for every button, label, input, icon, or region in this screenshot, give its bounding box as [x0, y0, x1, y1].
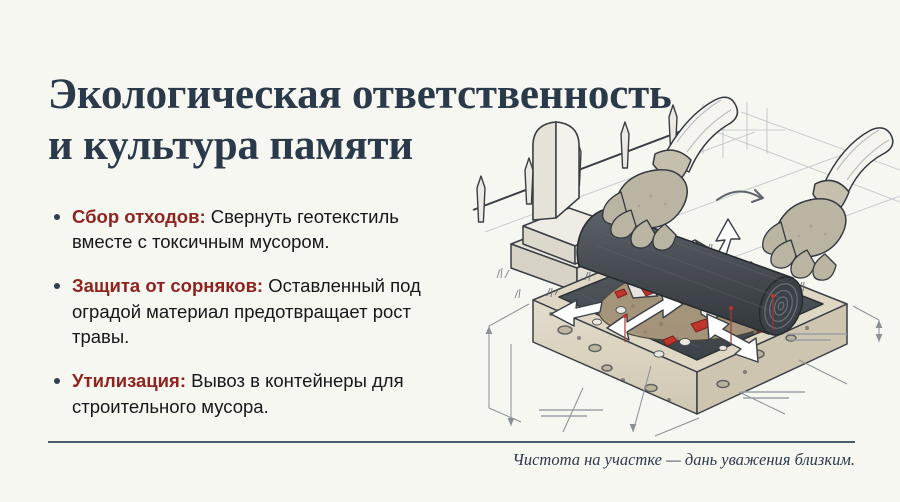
- bullet-list: Сбор отходов: Свернуть геотекстиль вмест…: [48, 185, 463, 419]
- bullet-dot-icon: [54, 283, 60, 289]
- bullet-label: Защита от сорняков:: [72, 275, 263, 296]
- bullet-dot-icon: [54, 378, 60, 384]
- bullet-label: Утилизация:: [72, 370, 186, 391]
- footer-divider: [48, 441, 855, 443]
- footer-caption: Чистота на участке — дань уважения близк…: [480, 450, 855, 470]
- list-item: Защита от сорняков: Оставленный под огра…: [48, 273, 463, 350]
- slide-root: Экологическая ответственность и культура…: [0, 0, 900, 502]
- list-item: Сбор отходов: Свернуть геотекстиль вмест…: [48, 204, 463, 255]
- list-item: Утилизация: Вывоз в контейнеры для строи…: [48, 368, 463, 419]
- bullet-dot-icon: [54, 214, 60, 220]
- rotation-arrow-icon: [717, 190, 763, 202]
- bullet-label: Сбор отходов:: [72, 206, 206, 227]
- illustration: [455, 92, 900, 437]
